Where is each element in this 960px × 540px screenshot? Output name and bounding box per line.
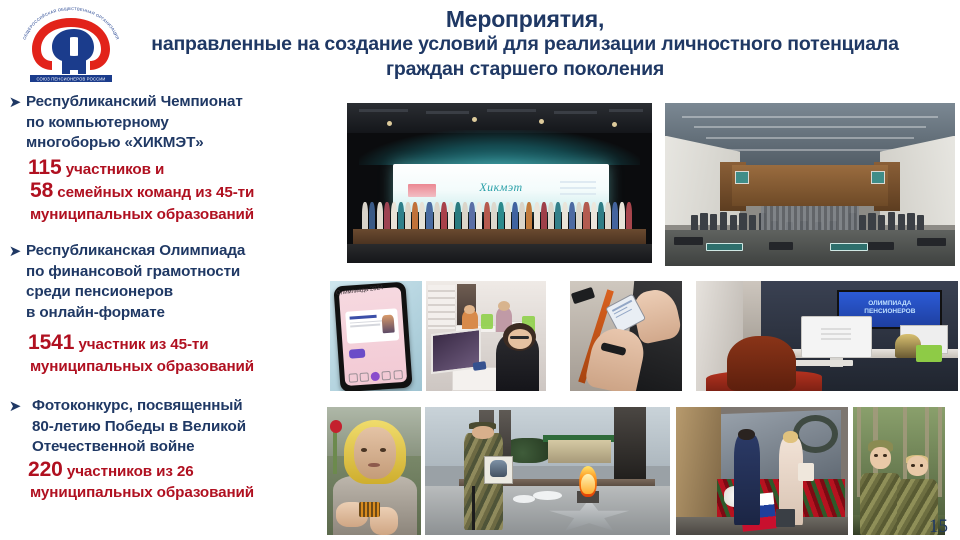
ceiling-slat bbox=[717, 149, 903, 151]
veteran-head bbox=[472, 426, 494, 439]
page-number: 15 bbox=[929, 516, 948, 538]
smartphone-device bbox=[334, 282, 413, 391]
bullet-block-photo-contest: ➤ Фотоконкурс, посвященный 80-летию Побе… bbox=[0, 396, 345, 504]
nav-home-icon[interactable] bbox=[349, 373, 359, 383]
photo-elderly-woman-ribbon bbox=[327, 407, 421, 535]
title-line-1: Мероприятия, bbox=[100, 6, 950, 32]
green-chair bbox=[916, 345, 942, 363]
crowd-of-participants bbox=[362, 202, 637, 231]
stage-monitor bbox=[706, 243, 744, 251]
eye bbox=[380, 448, 387, 452]
screen-side-logo bbox=[408, 184, 436, 197]
shoulder-bag bbox=[798, 463, 813, 481]
person-head bbox=[498, 301, 510, 311]
stage-monitor bbox=[830, 243, 868, 251]
nav-profile-icon[interactable] bbox=[393, 370, 403, 380]
eye bbox=[361, 448, 368, 452]
bullet-title-line: 80-летию Победы в Великой bbox=[32, 417, 345, 438]
bookshelf bbox=[428, 285, 454, 329]
chair bbox=[481, 314, 493, 329]
stage-light-wash bbox=[359, 130, 640, 165]
eye bbox=[883, 454, 887, 457]
photo-championship-stage: Хикмэт bbox=[347, 103, 652, 263]
eye bbox=[911, 464, 915, 467]
mouth bbox=[368, 463, 379, 467]
bullet-title-line: Фотоконкурс, посвященный bbox=[32, 396, 345, 417]
bullet-arrow-icon: ➤ bbox=[0, 396, 26, 417]
app-bottom-nav bbox=[348, 369, 404, 383]
photo-computer-class-screen: ОЛИМПИАДА ПЕНСИОНЕРОВ bbox=[696, 281, 958, 391]
ceiling-slat bbox=[682, 116, 937, 118]
ceiling-truss bbox=[359, 109, 408, 112]
app-hero-card bbox=[346, 309, 400, 345]
memorial-pillar bbox=[614, 407, 646, 486]
bullet-title-line: по компьютерному bbox=[26, 113, 345, 134]
walking-cane bbox=[472, 486, 475, 530]
bullet-list: ➤ Республиканский Чемпионат по компьютер… bbox=[0, 92, 345, 504]
photo-laying-flowers-memorial bbox=[676, 407, 848, 535]
bullet-arrow-icon: ➤ bbox=[0, 92, 26, 113]
stat-number: 1541 bbox=[28, 331, 74, 354]
title-line-3: граждан старшего поколения bbox=[100, 57, 950, 82]
woman-face bbox=[354, 427, 395, 478]
bullet-block-olympiad: ➤ Республиканская Олимпиада по финансово… bbox=[0, 241, 345, 377]
foreground-woman-hair bbox=[727, 336, 795, 391]
spotlight bbox=[387, 121, 392, 126]
bullet-stat-line: муниципальных образований bbox=[0, 204, 345, 226]
bullet-stat-line: муниципальных образований bbox=[0, 356, 345, 378]
ceiling-truss bbox=[426, 111, 469, 114]
nav-list-icon[interactable] bbox=[360, 372, 370, 382]
background-building bbox=[548, 440, 612, 463]
child-uniform bbox=[860, 473, 900, 535]
empty-chair-rows bbox=[761, 206, 860, 230]
bullet-title-line: среди пенсионеров bbox=[26, 282, 345, 303]
woman-head bbox=[783, 431, 798, 443]
photo-hands-with-smartphone bbox=[570, 281, 682, 391]
stat-number: 115 bbox=[28, 156, 62, 179]
child-face bbox=[870, 447, 891, 469]
man-laying-flowers bbox=[734, 435, 760, 525]
memorial-portrait bbox=[484, 456, 513, 484]
eyeglasses bbox=[510, 336, 529, 339]
phone-screen bbox=[339, 288, 407, 387]
bullet-stat-line: 115 участников и bbox=[0, 157, 345, 181]
bullet-stat-line: муниципальных образований bbox=[0, 482, 345, 504]
child-left bbox=[860, 435, 900, 535]
bullet-stat-line: 1541 участник из 45-ти bbox=[0, 332, 345, 356]
tree-trunk bbox=[938, 407, 943, 497]
child-face bbox=[907, 456, 928, 476]
keyboard bbox=[790, 360, 853, 366]
desktop-computer-monitor bbox=[801, 316, 872, 358]
monitor-content bbox=[821, 328, 851, 344]
screen-title-text: Хикмэт bbox=[479, 180, 522, 195]
side-display-left bbox=[735, 171, 750, 184]
photo-phone-olympiad-app: Олимпиада 2024 bbox=[330, 281, 422, 391]
ceiling-truss bbox=[487, 109, 536, 112]
photo-veteran-eternal-flame bbox=[425, 407, 670, 535]
bullet-title-line: многоборью «ХИКМЭТ» bbox=[26, 133, 345, 154]
screen-side-block bbox=[560, 181, 597, 199]
ceiling-truss bbox=[609, 109, 643, 112]
stage-speaker bbox=[868, 242, 894, 250]
carnation-flower bbox=[330, 420, 342, 433]
bullet-stat-line: 220 участников из 26 bbox=[0, 459, 345, 483]
projection-screen-text: ОЛИМПИАДА ПЕНСИОНЕРОВ bbox=[848, 300, 933, 316]
stat-number: 58 bbox=[30, 179, 53, 202]
bullet-block-championship: ➤ Республиканский Чемпионат по компьютер… bbox=[0, 92, 345, 225]
bullet-title-line: Республиканский Чемпионат bbox=[26, 92, 345, 113]
stage-speaker bbox=[769, 242, 792, 250]
photo-women-at-computers bbox=[426, 281, 546, 391]
nav-docs-icon[interactable] bbox=[382, 371, 392, 381]
stat-text: участник из 45-ти bbox=[74, 336, 208, 353]
eye bbox=[874, 454, 878, 457]
eternal-flame-core bbox=[581, 474, 596, 494]
stone-wall bbox=[676, 407, 721, 535]
bullet-title-line: в онлайн-формате bbox=[26, 303, 345, 324]
nav-active-icon[interactable] bbox=[371, 372, 381, 382]
side-display-right bbox=[871, 171, 886, 184]
svg-text:СОЮЗ ПЕНСИОНЕРОВ РОССИИ: СОЮЗ ПЕНСИОНЕРОВ РОССИИ bbox=[36, 76, 105, 81]
stat-text: участников и bbox=[62, 161, 165, 178]
ceiling-slat bbox=[706, 137, 915, 139]
memorial-box bbox=[776, 509, 795, 527]
st-george-ribbon bbox=[359, 502, 380, 517]
app-heading-bar bbox=[350, 315, 377, 320]
bullet-title-line: Отечественной войне bbox=[32, 437, 345, 458]
auditorium-floor bbox=[347, 244, 652, 263]
stage-speaker bbox=[674, 237, 703, 245]
stat-text: семейных команд из 45-ти bbox=[53, 184, 254, 201]
stage-speaker bbox=[917, 238, 946, 246]
photo-conference-hall bbox=[665, 103, 955, 266]
bullet-arrow-icon: ➤ bbox=[0, 241, 26, 262]
ceiling-slat bbox=[694, 126, 926, 128]
page-title: Мероприятия, направленные на создание ус… bbox=[100, 6, 950, 82]
ceiling-truss bbox=[554, 111, 597, 114]
bullet-stat-line: 58 семейных команд из 45-ти bbox=[0, 180, 345, 204]
bullet-title-line: Республиканская Олимпиада bbox=[26, 241, 345, 262]
foreground-woman-face bbox=[508, 329, 532, 349]
stat-number: 220 bbox=[28, 458, 63, 481]
app-primary-button bbox=[349, 349, 366, 359]
app-illustration-figure bbox=[382, 315, 395, 334]
stat-text: участников из 26 bbox=[63, 463, 194, 480]
slide-root: ОБЩЕРОССИЙСКАЯ ОБЩЕСТВЕННАЯ ОРГАНИЗАЦИЯ … bbox=[0, 0, 960, 540]
title-line-2: направленные на создание условий для реа… bbox=[100, 32, 950, 57]
bullet-title-line: по финансовой грамотности bbox=[26, 262, 345, 283]
stage-ceiling bbox=[347, 103, 652, 133]
man-head bbox=[738, 429, 755, 441]
